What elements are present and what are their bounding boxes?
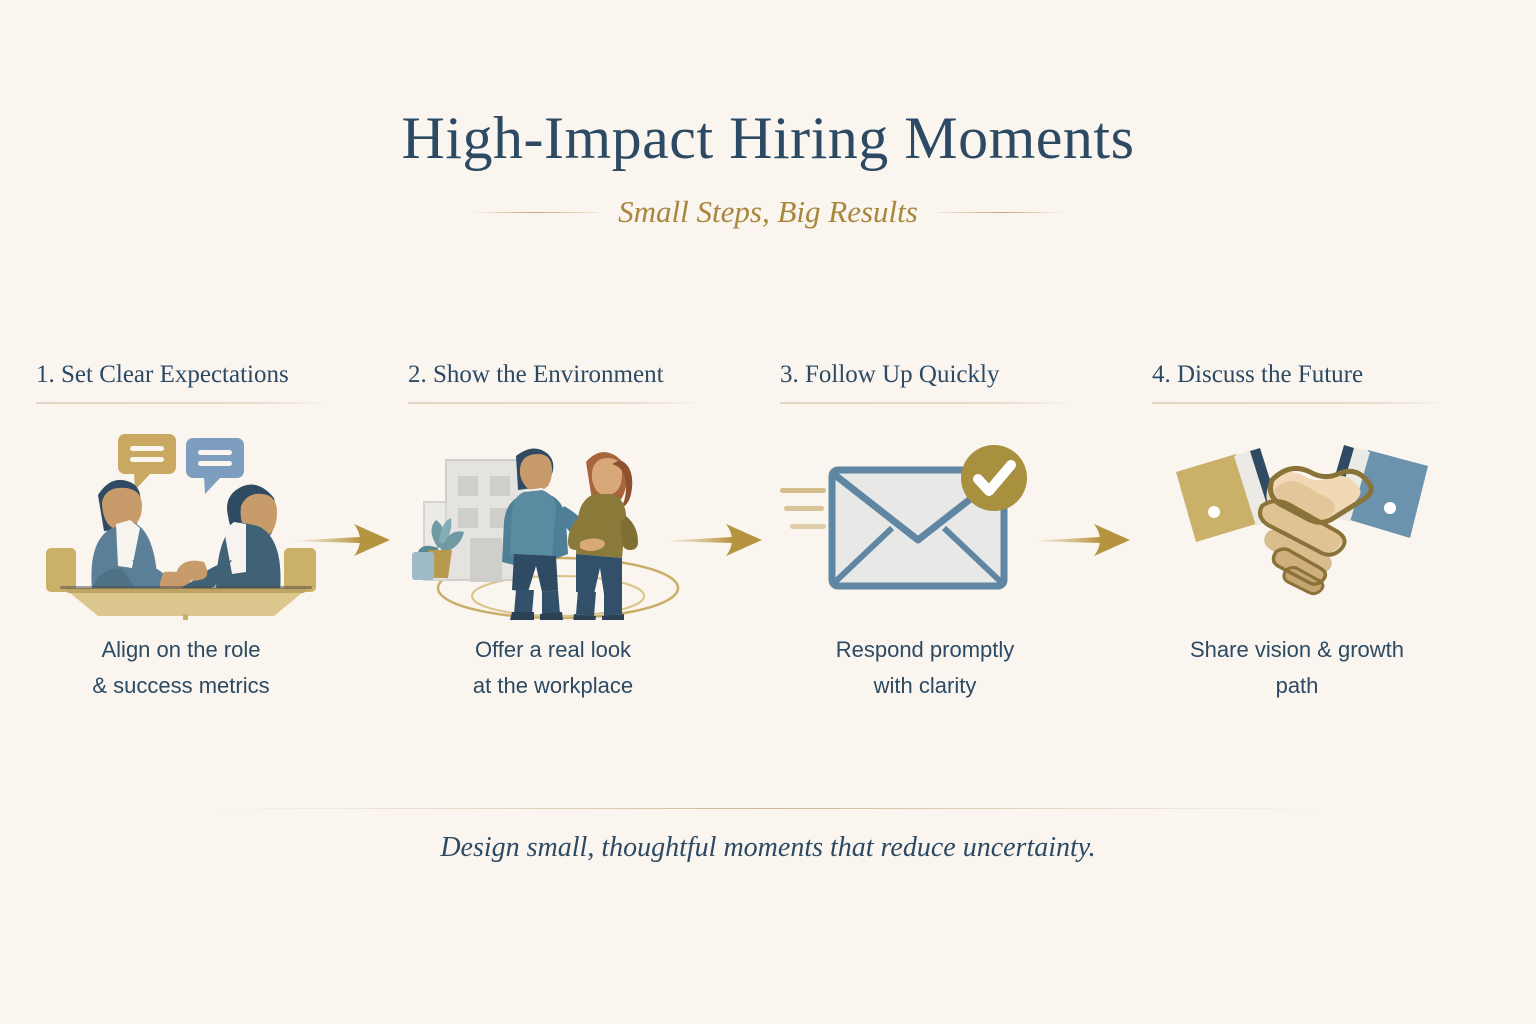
handshake-icon — [1152, 420, 1452, 620]
arrow-2-to-3 — [660, 520, 770, 560]
step-1-rule — [36, 402, 324, 404]
footer-divider — [210, 808, 1328, 809]
infographic-page: High-Impact Hiring Moments Small Steps, … — [0, 0, 1536, 1024]
step-2-heading: 2. Show the Environment — [408, 358, 756, 392]
step-4-caption: Share vision & growth path — [1152, 632, 1442, 704]
person-woman — [568, 452, 638, 620]
step-2-caption-line2: at the workplace — [408, 668, 698, 704]
step-4-heading: 4. Discuss the Future — [1152, 358, 1500, 392]
step-4-caption-line1: Share vision & growth — [1152, 632, 1442, 668]
subtitle-rule-left — [470, 212, 598, 213]
header: High-Impact Hiring Moments Small Steps, … — [0, 104, 1536, 230]
step-4-icon-area — [1152, 420, 1500, 620]
table — [60, 586, 312, 620]
person-right — [177, 485, 281, 600]
step-1-heading: 1. Set Clear Expectations — [36, 358, 384, 392]
page-subtitle: Small Steps, Big Results — [618, 194, 918, 230]
subtitle-rule-right — [938, 212, 1066, 213]
step-2-caption: Offer a real look at the workplace — [408, 632, 698, 704]
step-3-caption: Respond promptly with clarity — [780, 632, 1070, 704]
step-3-rule — [780, 402, 1068, 404]
sleeve-left — [1176, 448, 1282, 542]
step-1-caption-line2: & success metrics — [36, 668, 326, 704]
step-2-caption-line1: Offer a real look — [408, 632, 698, 668]
step-4: 4. Discuss the Future — [1152, 358, 1500, 704]
step-3-caption-line1: Respond promptly — [780, 632, 1070, 668]
hands — [1260, 468, 1371, 593]
step-4-rule — [1152, 402, 1440, 404]
person-left — [91, 480, 190, 599]
check-badge — [961, 445, 1027, 511]
arrow-1-to-2 — [288, 520, 398, 560]
speech-bubble-blue — [186, 438, 244, 494]
step-1-caption: Align on the role & success metrics — [36, 632, 326, 704]
step-4-caption-line2: path — [1152, 668, 1442, 704]
step-3-heading: 3. Follow Up Quickly — [780, 358, 1128, 392]
speed-lines — [780, 488, 826, 529]
step-2-rule — [408, 402, 696, 404]
page-title: High-Impact Hiring Moments — [0, 104, 1536, 172]
step-3-caption-line2: with clarity — [780, 668, 1070, 704]
subtitle-row: Small Steps, Big Results — [0, 194, 1536, 230]
footer-text: Design small, thoughtful moments that re… — [0, 832, 1536, 864]
step-1-caption-line1: Align on the role — [36, 632, 326, 668]
arrow-3-to-4 — [1028, 520, 1138, 560]
